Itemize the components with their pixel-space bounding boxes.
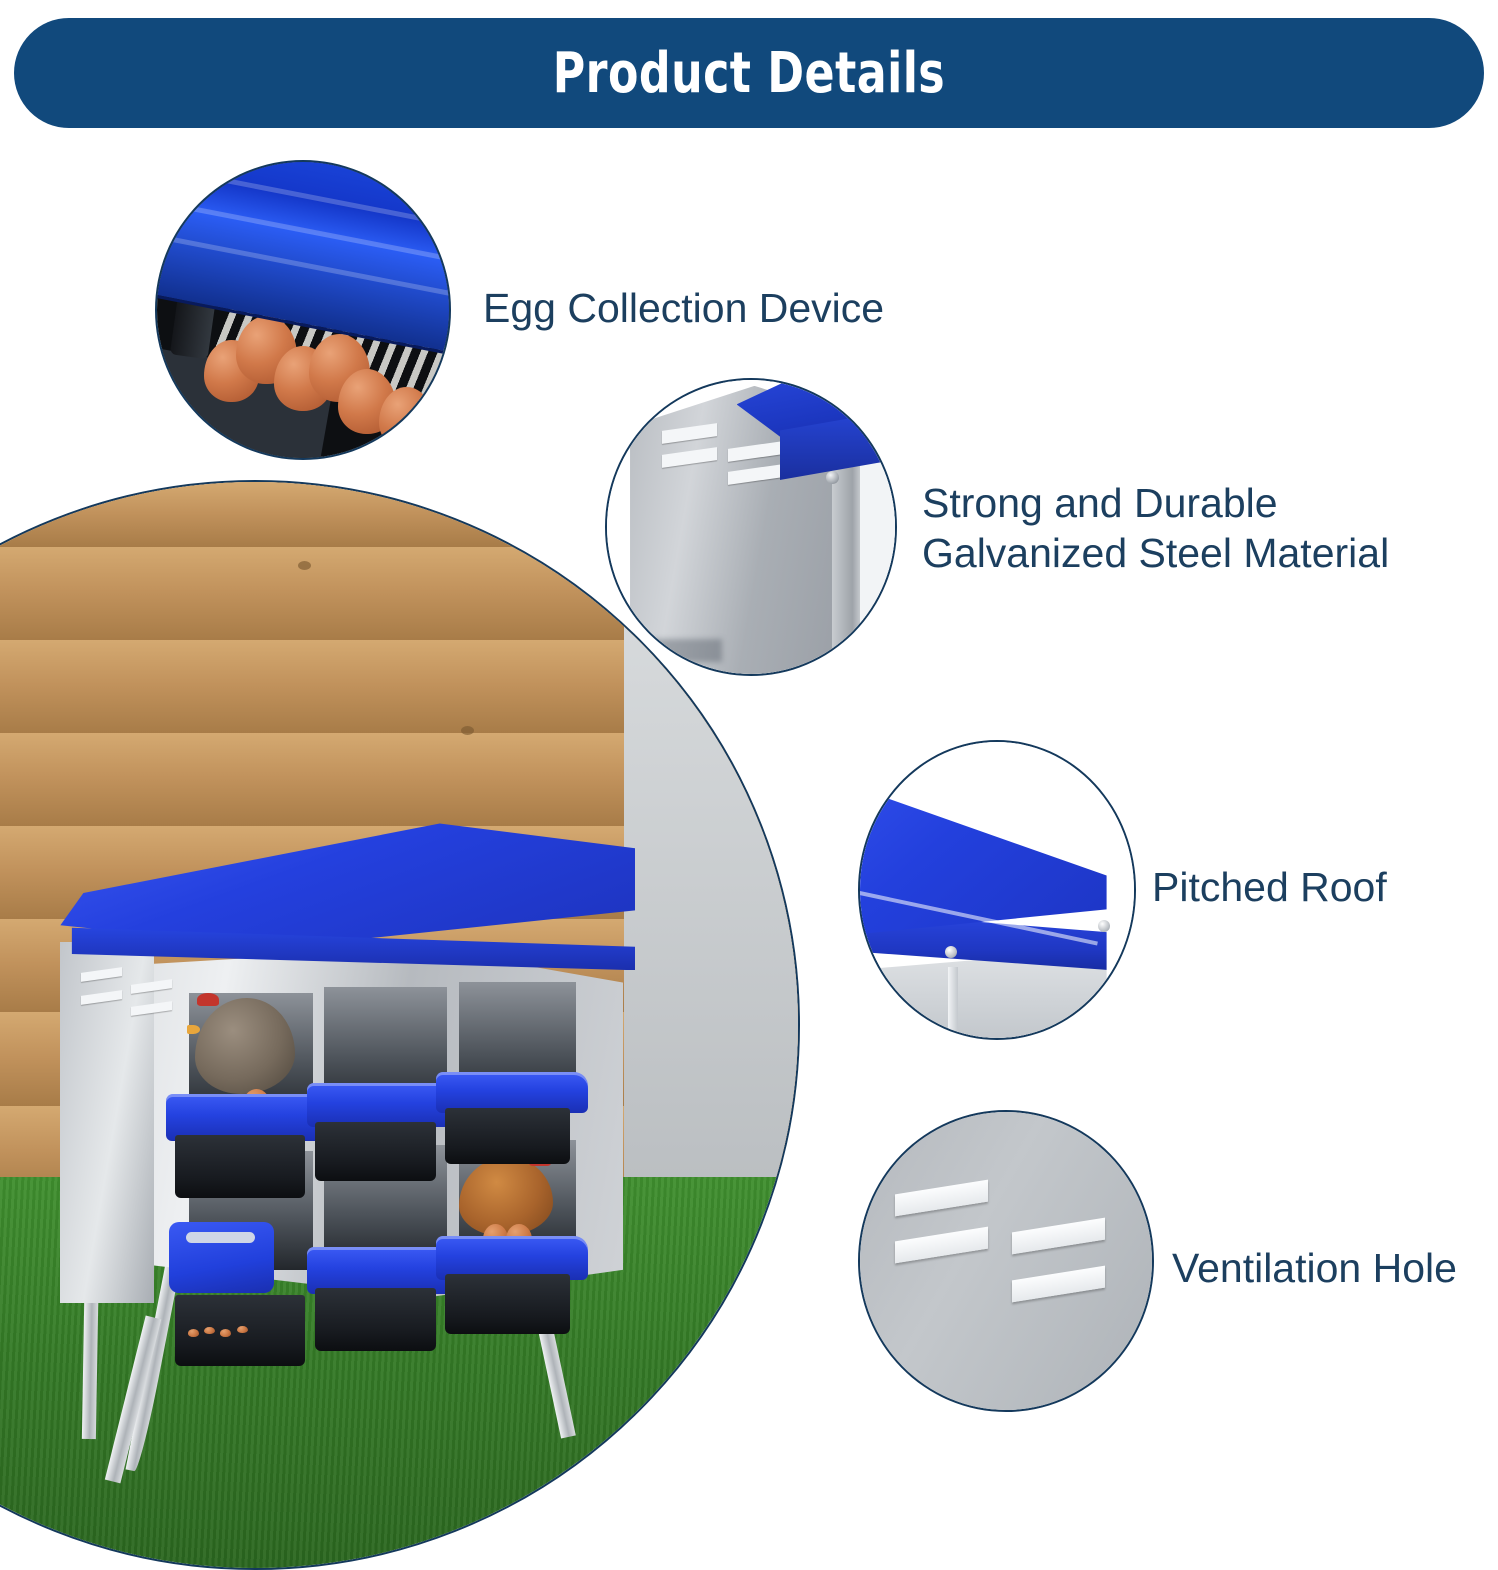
screw-icon (826, 471, 839, 484)
screw-icon (1098, 920, 1110, 932)
roof-corner (1029, 1110, 1154, 1213)
page-title: Product Details (553, 41, 945, 106)
corner-post (948, 967, 958, 1038)
chicken (195, 998, 295, 1094)
callout-label-pitched-roof: Pitched Roof (1152, 862, 1387, 912)
egg-tray (436, 1236, 588, 1332)
egg-collection-photo (157, 162, 449, 458)
concrete-wall (624, 569, 798, 1221)
ventilation-slot (895, 1227, 988, 1264)
egg-tray (307, 1083, 454, 1179)
pitched-roof-image (858, 740, 1136, 1040)
lid-rib (155, 192, 451, 269)
egg-tray (436, 1072, 588, 1162)
callout-label-ventilation-hole: Ventilation Hole (1172, 1243, 1457, 1293)
header-banner: Product Details (14, 18, 1484, 128)
pitched-roof (60, 823, 635, 947)
egg-tray (166, 1094, 324, 1196)
ventilation-slot (1012, 1266, 1105, 1303)
ventilation-slot (1012, 1218, 1105, 1255)
pitched-roof-photo (860, 742, 1134, 1038)
lid-rib (155, 160, 451, 236)
callout-label-galvanized-steel: Strong and Durable Galvanized Steel Mate… (922, 478, 1389, 578)
chicken (459, 1157, 553, 1236)
callout-label-egg-collection: Egg Collection Device (483, 283, 884, 333)
steel-white-edge (860, 456, 897, 674)
nesting-box-unit (49, 840, 635, 1405)
egg-collection-image (155, 160, 451, 460)
lid-rib (155, 225, 451, 302)
main-product-photo (0, 480, 800, 1570)
egg-tray (166, 1258, 324, 1365)
ventilation-hole-photo (860, 1112, 1152, 1410)
ventilation-hole-image (858, 1110, 1154, 1412)
tray-handle (169, 1222, 273, 1293)
egg-tray (307, 1247, 454, 1349)
ventilation-slot (895, 1179, 988, 1216)
